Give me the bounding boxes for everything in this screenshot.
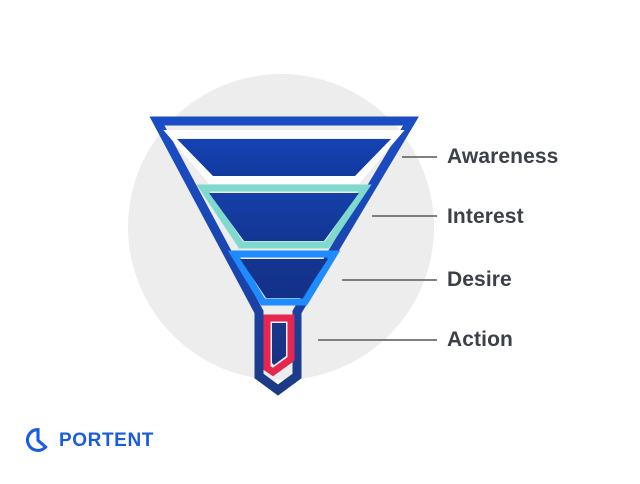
awareness-fill — [177, 139, 391, 176]
portent-circle-icon — [26, 428, 50, 452]
funnel-stage-awareness — [172, 134, 396, 180]
funnel-diagram-svg — [0, 0, 640, 484]
funnel-label-action: Action — [447, 329, 513, 350]
funnel-label-awareness: Awareness — [447, 146, 558, 167]
diagram-canvas: Awareness Interest Desire Action PORTENT — [0, 0, 640, 484]
brand-logo: PORTENT — [26, 428, 154, 452]
brand-wordmark: PORTENT — [59, 431, 154, 450]
funnel-label-desire: Desire — [447, 269, 512, 290]
funnel-label-interest: Interest — [447, 206, 524, 227]
